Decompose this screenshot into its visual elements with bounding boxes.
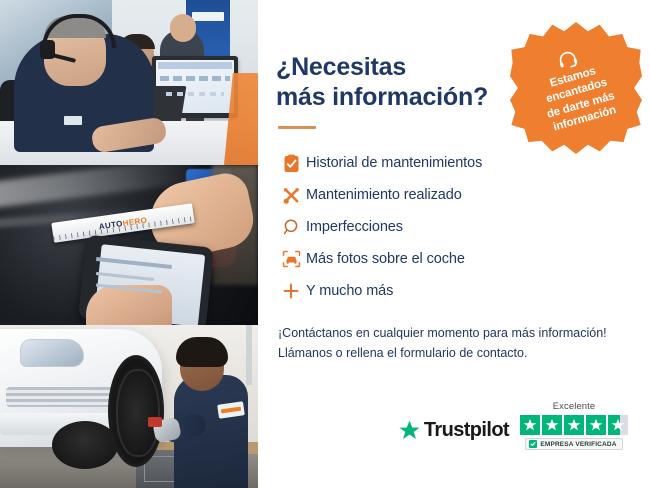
list-item-label: Historial de mantenimientos: [306, 156, 482, 171]
title-underline: [278, 126, 316, 129]
feature-list: Historial de mantenimientos Mantenimient…: [276, 147, 626, 307]
verified-business-badge: EMPRESA VERIFICADA: [525, 438, 622, 450]
magnifier-icon: [276, 218, 306, 236]
list-item-label: Más fotos sobre el coche: [306, 252, 465, 267]
car-inspection-ruler-photo: AUTOHERO: [0, 165, 258, 325]
wall-pipe: [246, 325, 252, 385]
list-item: Más fotos sobre el coche: [276, 243, 626, 275]
star-filled: [520, 415, 540, 435]
trustpilot-score-block: Excelente EMPRESA VERIFICADA: [520, 401, 628, 450]
mechanic-hair: [176, 337, 228, 367]
trustpilot-wordmark: Trustpilot: [424, 419, 509, 442]
status-badge: Estamos encantados de darte más informac…: [510, 22, 642, 154]
check-icon: [529, 440, 537, 448]
star-filled: [564, 415, 584, 435]
hand-tool: [148, 417, 162, 427]
list-item: Imperfecciones: [276, 211, 626, 243]
autohero-ruler-logo: AUTOHERO: [98, 215, 148, 231]
headline-line-1: ¿Necesitas: [276, 53, 406, 81]
list-item-label: Y mucho más: [306, 284, 393, 299]
page-title: ¿Necesitas más información?: [276, 52, 506, 112]
background-head-3: [170, 14, 196, 42]
star-partial: [608, 415, 628, 435]
list-item: Mantenimiento realizado: [276, 179, 626, 211]
list-item-label: Mantenimiento realizado: [306, 188, 462, 203]
verified-label: EMPRESA VERIFICADA: [540, 441, 616, 448]
rear-tyre: [52, 421, 118, 469]
trustpilot-rating[interactable]: Trustpilot Excelente EMPRESA VERIFICADA: [398, 401, 628, 450]
monitor-thumbnail-row: [160, 76, 230, 81]
plus-icon: [276, 282, 306, 300]
trustpilot-logo[interactable]: Trustpilot: [398, 419, 509, 450]
monitor-text-row: [166, 92, 224, 96]
star-rating: [520, 415, 628, 435]
star-filled: [542, 415, 562, 435]
agent-name-badge: [64, 116, 82, 125]
rating-label: Excelente: [553, 401, 596, 412]
list-item: Y mucho más: [276, 275, 626, 307]
contact-text: ¡Contáctanos en cualquier momento para m…: [278, 323, 624, 364]
call-center-agents-photo: [0, 0, 258, 165]
star-filled: [586, 415, 606, 435]
wrench-screwdriver-icon: [276, 186, 306, 205]
headline-line-2: más información?: [276, 83, 488, 111]
car-headlight: [20, 339, 84, 367]
photo-column: AUTOHERO: [0, 0, 258, 488]
clipboard-check-icon: [276, 154, 306, 173]
information-request-banner: AUTOHERO: [0, 0, 650, 488]
list-item-label: Imperfecciones: [306, 220, 403, 235]
monitor-toolbar: [158, 62, 232, 69]
contact-line-1: ¡Contáctanos en cualquier momento para m…: [278, 323, 624, 343]
content-panel: ¿Necesitas más información? Historial de…: [258, 0, 650, 488]
car-photo-frame-icon: [276, 250, 306, 268]
mechanic-wheel-photo: [0, 325, 258, 488]
contact-line-2: Llámanos o rellena el formulario de cont…: [278, 343, 624, 363]
trustpilot-star-icon: [398, 420, 421, 442]
front-tyre: [108, 355, 164, 467]
